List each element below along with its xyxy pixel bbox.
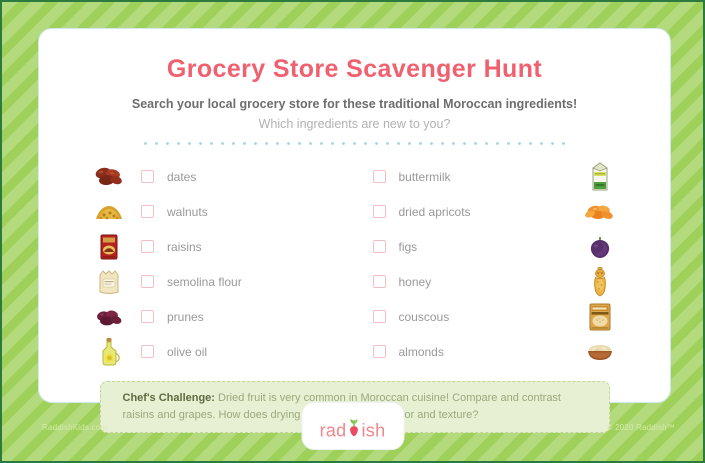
checkbox-walnuts[interactable] [141, 205, 154, 218]
checklist-item-label: almonds [399, 345, 444, 359]
checklist-row[interactable]: honey [355, 264, 633, 299]
subtitle-secondary: Which ingredients are new to you? [39, 117, 670, 131]
subtitle-primary: Search your local grocery store for thes… [39, 97, 670, 111]
radish-icon [347, 418, 362, 443]
checklist-row[interactable]: walnuts [77, 194, 355, 229]
checklist-row[interactable]: raisins [77, 229, 355, 264]
checklist-row[interactable]: prunes [77, 299, 355, 334]
checklist-row[interactable]: buttermilk [355, 159, 633, 194]
checklist-item-label: couscous [399, 310, 450, 324]
checklist-row[interactable]: dried apricots [355, 194, 633, 229]
page-title: Grocery Store Scavenger Hunt [39, 55, 670, 84]
worksheet-page: Grocery Store Scavenger Hunt Search your… [0, 0, 705, 463]
checklist-row[interactable]: dates [77, 159, 355, 194]
flour-bag-icon [77, 264, 141, 299]
checklist-item-label: dates [167, 170, 196, 184]
prunes-icon [77, 299, 141, 334]
fig-icon [568, 229, 632, 264]
checkbox-prunes[interactable] [141, 310, 154, 323]
checklist-item-label: buttermilk [399, 170, 451, 184]
checkbox-dates[interactable] [141, 170, 154, 183]
raisins-box-icon [77, 229, 141, 264]
checkbox-olive-oil[interactable] [141, 345, 154, 358]
checklist-row[interactable]: olive oil [77, 334, 355, 369]
dried-apricots-icon [568, 194, 632, 229]
footer-copyright: © 2020 Raddish™ [607, 423, 676, 432]
checkbox-dried-apricots[interactable] [373, 205, 386, 218]
ingredient-checklist: dates walnuts raisins semolina flour [77, 159, 632, 369]
checkbox-figs[interactable] [373, 240, 386, 253]
checkbox-raisins[interactable] [141, 240, 154, 253]
checklist-item-label: semolina flour [167, 275, 242, 289]
checkbox-honey[interactable] [373, 275, 386, 288]
checkbox-almonds[interactable] [373, 345, 386, 358]
checkbox-buttermilk[interactable] [373, 170, 386, 183]
content-card: Grocery Store Scavenger Hunt Search your… [38, 28, 671, 403]
checklist-item-label: olive oil [167, 345, 207, 359]
checklist-row[interactable]: almonds [355, 334, 633, 369]
logo-text-before: rad [320, 420, 347, 440]
buttermilk-carton-icon [568, 159, 632, 194]
footer: RaddishKids.com rad ish © 2020 Raddish™ [2, 401, 703, 461]
dotted-divider [140, 142, 570, 145]
footer-site-link[interactable]: RaddishKids.com [42, 423, 107, 432]
checklist-column-left: dates walnuts raisins semolina flour [77, 159, 355, 369]
checklist-item-label: walnuts [167, 205, 208, 219]
checklist-row[interactable]: couscous [355, 299, 633, 334]
olive-oil-bottle-icon [77, 334, 141, 369]
almonds-bowl-icon [568, 334, 632, 369]
raddish-logo[interactable]: rad ish [301, 402, 404, 450]
honey-bottle-icon [568, 264, 632, 299]
checkbox-semolina-flour[interactable] [141, 275, 154, 288]
logo-text-after: ish [362, 420, 386, 440]
checklist-item-label: prunes [167, 310, 204, 324]
checklist-item-label: raisins [167, 240, 202, 254]
checklist-item-label: honey [399, 275, 432, 289]
checklist-item-label: dried apricots [399, 205, 471, 219]
checklist-item-label: figs [399, 240, 418, 254]
checkbox-couscous[interactable] [373, 310, 386, 323]
dates-icon [77, 159, 141, 194]
logo-wordmark: rad ish [320, 419, 386, 444]
checklist-row[interactable]: semolina flour [77, 264, 355, 299]
walnuts-icon [77, 194, 141, 229]
checklist-row[interactable]: figs [355, 229, 633, 264]
checklist-column-right: buttermilk dried apricots figs honey [355, 159, 633, 369]
couscous-box-icon [568, 299, 632, 334]
